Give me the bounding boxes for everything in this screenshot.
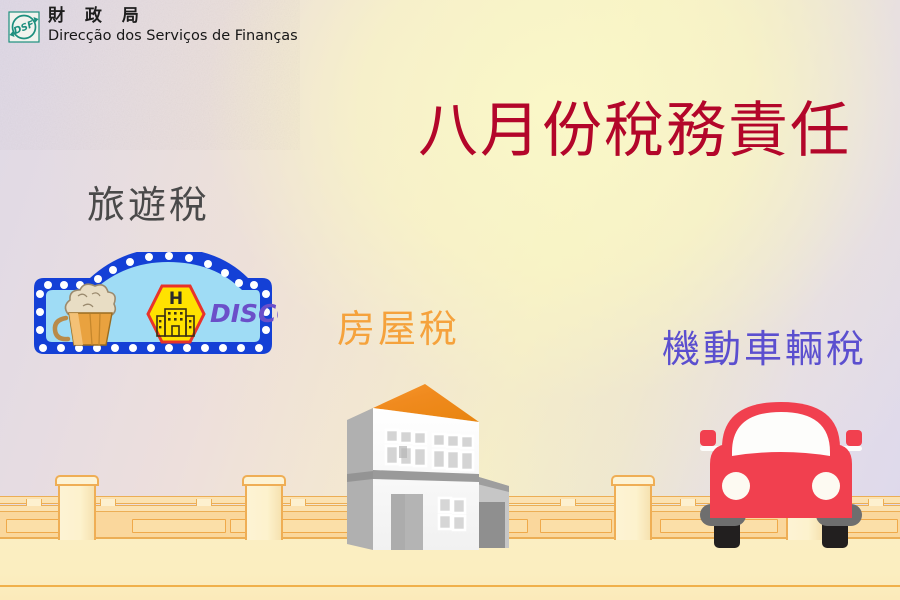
- disco-marquee-sign-icon: H DISCO: [28, 252, 278, 360]
- tax-label-vehicle: 機動車輛稅: [662, 330, 867, 368]
- organization-header: DSF 財 政 局 Direcção dos Serviços de Finan…: [8, 8, 298, 44]
- fence-pillar-cap: [242, 475, 286, 486]
- organization-name-pt: Direcção dos Serviços de Finanças: [48, 29, 298, 44]
- house-lower-window: [439, 498, 465, 530]
- fence-pillar: [245, 484, 283, 540]
- dsf-recycle-logo-icon: DSF: [8, 11, 40, 43]
- fence-pillar-cap: [55, 475, 99, 486]
- hotel-badge-letter: H: [169, 289, 183, 309]
- ground-edge-line: [0, 585, 900, 587]
- fence-gap: [196, 499, 212, 506]
- fence-gap: [26, 499, 42, 506]
- disco-text: DISCO: [210, 299, 278, 328]
- house-icon: [333, 378, 528, 558]
- page-title: 八月份稅務責任: [418, 101, 852, 161]
- fence-pillar-cap: [611, 475, 655, 486]
- fence-panel: [132, 519, 226, 533]
- house-annex-door: [479, 502, 505, 548]
- fence-gap: [560, 499, 576, 506]
- fence-panel: [540, 519, 612, 533]
- car-headlight-right: [812, 472, 840, 500]
- hotel-badge-icon: H: [148, 286, 204, 342]
- car-headlight-left: [722, 472, 750, 500]
- fence-gap: [100, 499, 116, 506]
- fence-pillar: [614, 484, 652, 540]
- car-front-icon: [686, 392, 876, 558]
- fence-gap: [290, 499, 306, 506]
- tax-poster: DSF 財 政 局 Direcção dos Serviços de Finan…: [0, 0, 900, 600]
- fence-pillar: [58, 484, 96, 540]
- tax-label-property: 房屋稅: [337, 310, 460, 348]
- tax-label-tourism: 旅遊稅: [87, 186, 210, 224]
- organization-name-cn: 財 政 局: [48, 8, 298, 25]
